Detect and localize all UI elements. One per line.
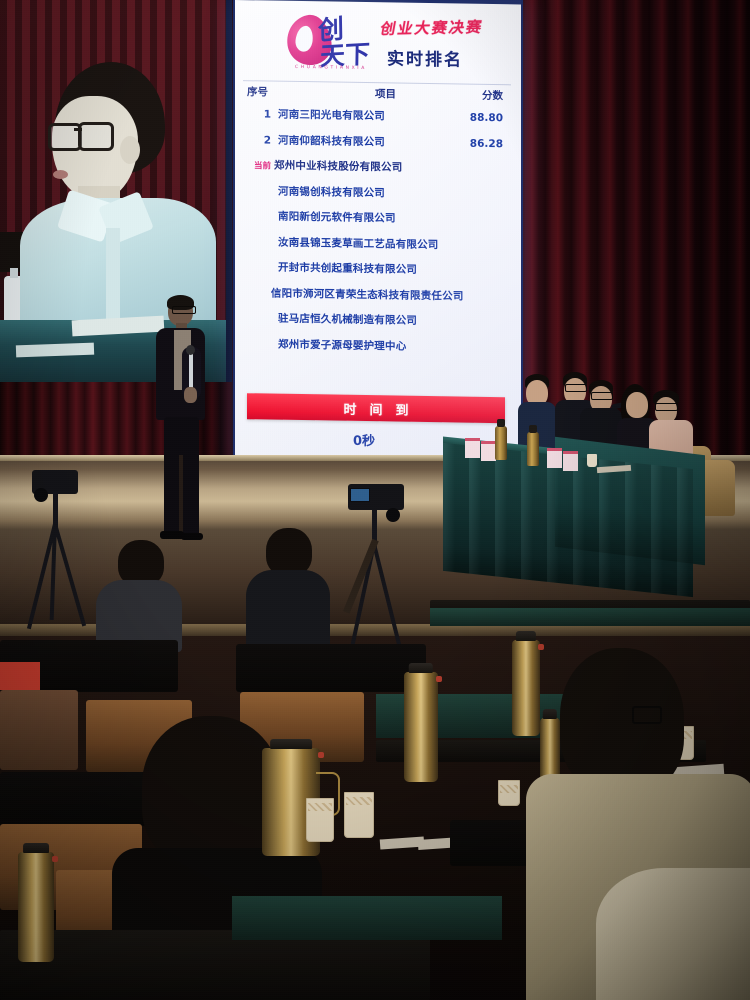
ranking-table: 序号 项目 分数 1河南三阳光电有限公司88.802河南仰韶科技有限公司86.2… bbox=[235, 84, 521, 365]
row-rank: 2 bbox=[247, 134, 278, 146]
audience-desk-green-far-right bbox=[430, 608, 750, 626]
video-person-ear bbox=[120, 136, 140, 164]
handbag-tag bbox=[0, 662, 40, 690]
thermos-flask-2 bbox=[404, 672, 438, 782]
thermos-carafe-lid bbox=[270, 739, 312, 749]
judges-panel bbox=[437, 368, 750, 583]
row-score: 88.80 bbox=[447, 111, 509, 124]
audience-person-2 bbox=[246, 528, 330, 648]
seat-back-2 bbox=[236, 644, 426, 692]
current-entry-marker: 当前 bbox=[247, 159, 274, 171]
camera-tripod-left bbox=[22, 462, 92, 632]
video-person-mouth bbox=[53, 170, 68, 179]
row-project-name: 郑州中业科技股份有限公司 bbox=[274, 158, 447, 176]
paper-cup-front-1 bbox=[306, 798, 334, 842]
judge-thermos-1 bbox=[495, 426, 507, 460]
row-project-name: 汝南县锦玉麦草画工艺品有限公司 bbox=[278, 234, 447, 252]
judge-thermos-2 bbox=[527, 432, 539, 466]
audience-person-1 bbox=[96, 540, 182, 650]
thermos-flask-4-lid bbox=[23, 843, 49, 853]
presenter-leg-gap bbox=[179, 455, 183, 533]
row-project-name: 河南锡创科技有限公司 bbox=[278, 183, 447, 201]
presenter-hand bbox=[184, 387, 197, 403]
judge-cup bbox=[587, 454, 597, 467]
judge-4-head bbox=[626, 392, 648, 418]
column-header-score: 分数 bbox=[447, 87, 509, 103]
judge-5-glasses bbox=[655, 403, 678, 411]
camera-lcd-screen-right bbox=[350, 488, 370, 502]
row-score bbox=[447, 324, 509, 325]
time-up-text: 时间到 bbox=[330, 398, 421, 418]
handbag bbox=[0, 690, 78, 770]
row-score bbox=[447, 350, 509, 351]
row-score bbox=[447, 222, 509, 223]
row-project-name: 开封市共创起重科技有限公司 bbox=[278, 260, 447, 278]
row-project-name: 河南仰韶科技有限公司 bbox=[278, 132, 447, 150]
audience-desk-green-front bbox=[232, 896, 502, 940]
thermos-flask-2-spout bbox=[436, 676, 442, 682]
row-score bbox=[447, 248, 509, 249]
camera-lens-right-icon bbox=[386, 508, 400, 522]
paper-cup-front-2 bbox=[344, 792, 374, 838]
audience-person-3-head bbox=[142, 716, 282, 866]
row-score bbox=[464, 299, 509, 300]
column-header-no: 序号 bbox=[247, 84, 283, 100]
slide-header: 创 天下 C H U A N G T I A N X I A 创业大赛决赛 实时… bbox=[235, 0, 521, 82]
table-row: 郑州市爱子源母婴护理中心 bbox=[235, 336, 521, 366]
slide-title-main: 创业大赛决赛 bbox=[379, 16, 485, 39]
judge-name-card-4 bbox=[563, 451, 578, 471]
judge-3-glasses bbox=[591, 392, 613, 400]
camera-lens-left-icon bbox=[34, 488, 48, 502]
paper-cup-desk-1 bbox=[498, 780, 520, 806]
thermos-flask-1-lid bbox=[516, 631, 536, 641]
camera-tripod-right bbox=[330, 480, 420, 660]
tripod-leg-left-2 bbox=[53, 523, 86, 626]
presenter-glasses bbox=[172, 306, 196, 314]
thermos-flask-4 bbox=[18, 852, 54, 962]
microphone-head-icon bbox=[186, 345, 195, 355]
presenter bbox=[150, 295, 210, 545]
row-score: 86.28 bbox=[447, 137, 509, 150]
logo-pinyin: C H U A N G T I A N X I A bbox=[295, 65, 365, 71]
row-score bbox=[447, 197, 509, 198]
row-score bbox=[447, 171, 509, 172]
audience-person-5-body bbox=[596, 868, 750, 1000]
thermos-flask-4-spout bbox=[52, 856, 58, 862]
row-project-name: 南阳新创元软件有限公司 bbox=[278, 209, 447, 227]
screenshot-root: 创 天下 C H U A N G T I A N X I A 创业大赛决赛 实时… bbox=[0, 0, 750, 1000]
tripod-leg-right-2 bbox=[372, 544, 402, 652]
thermos-flask-2-lid bbox=[409, 663, 433, 673]
row-project-name: 驻马店恒久机械制造有限公司 bbox=[278, 311, 447, 329]
audience-person-2-head bbox=[266, 528, 312, 576]
judge-2-glasses bbox=[565, 384, 587, 392]
row-rank: 1 bbox=[247, 108, 278, 120]
presenter-shoe-right bbox=[181, 533, 203, 540]
table-body: 1河南三阳光电有限公司88.802河南仰韶科技有限公司86.28当前郑州中业科技… bbox=[235, 106, 521, 365]
row-project-name: 信阳市浉河区青荣生态科技有限责任公司 bbox=[271, 285, 464, 303]
column-header-project: 项目 bbox=[283, 85, 447, 103]
audience-person-5 bbox=[596, 868, 750, 1000]
video-person-glasses-right bbox=[78, 122, 114, 151]
competition-logo: 创 天下 C H U A N G T I A N X I A bbox=[287, 9, 373, 72]
audience-person-4-glasses bbox=[632, 706, 662, 724]
row-project-name: 郑州市爱子源母婴护理中心 bbox=[278, 336, 447, 354]
judge-name-card-3 bbox=[547, 448, 562, 468]
row-score bbox=[447, 273, 509, 274]
row-project-name: 河南三阳光电有限公司 bbox=[278, 107, 447, 125]
audience-person-4-head bbox=[560, 648, 684, 794]
judge-name-card-1 bbox=[465, 438, 480, 458]
slide-title-sub: 实时排名 bbox=[387, 44, 463, 70]
audience-person-2-body bbox=[246, 570, 330, 650]
video-wall-edge bbox=[226, 0, 232, 382]
judge-name-card-2 bbox=[481, 441, 496, 461]
thermos-carafe-spout bbox=[318, 752, 324, 758]
audience-desk-front bbox=[0, 930, 430, 1000]
video-person-glasses-bridge bbox=[74, 128, 82, 131]
